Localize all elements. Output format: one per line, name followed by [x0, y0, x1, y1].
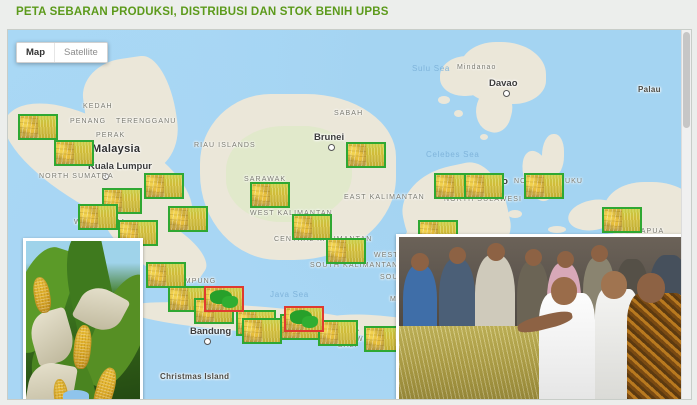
marker-field-thumbnail: [98, 206, 116, 228]
corn-photo-inner: [26, 241, 140, 400]
crowd-person-head: [449, 247, 466, 264]
marker-field-thumbnail: [122, 190, 140, 212]
map-marker-bengkulu[interactable]: [168, 206, 208, 232]
crowd-person-head: [411, 253, 429, 271]
marker-corn-thumbnail: [466, 175, 484, 197]
map-marker-west-kalimantan[interactable]: [250, 182, 290, 208]
map-marker-central-kalimantan[interactable]: [292, 214, 332, 240]
crowd-person-head: [525, 249, 542, 266]
map-marker-west-java-selected[interactable]: [204, 286, 244, 312]
marker-corn-thumbnail: [170, 208, 188, 230]
marker-corn-thumbnail: [56, 142, 74, 164]
marker-province-highlight: [302, 316, 318, 328]
marker-corn-thumbnail: [366, 328, 384, 350]
city-dot: [102, 173, 109, 180]
marker-pin-tail: [221, 310, 227, 312]
corn-field-photo[interactable]: [23, 238, 143, 400]
marker-field-thumbnail: [346, 240, 364, 262]
map-marker-north-sumatra[interactable]: [54, 140, 94, 166]
marker-field-thumbnail: [366, 144, 384, 166]
marker-field-thumbnail: [74, 142, 92, 164]
marker-corn-thumbnail: [526, 175, 544, 197]
marker-field-thumbnail: [484, 175, 502, 197]
map-marker-north-maluku[interactable]: [524, 173, 564, 199]
harvest-photo-inner: [399, 237, 692, 400]
map-type-map-button[interactable]: Map: [17, 43, 54, 62]
marker-corn-thumbnail: [294, 216, 312, 238]
marker-province-highlight: [222, 296, 238, 308]
page-header: PETA SEBARAN PRODUKSI, DISTRIBUSI DAN ST…: [0, 0, 697, 27]
page-title: PETA SEBARAN PRODUKSI, DISTRIBUSI DAN ST…: [16, 6, 389, 18]
official-batik-shirt: [627, 293, 689, 400]
marker-corn-thumbnail: [146, 175, 164, 197]
map-marker-west-papua[interactable]: [602, 207, 642, 233]
marker-field-thumbnail: [622, 209, 640, 231]
map-marker-bali[interactable]: [318, 320, 358, 346]
marker-corn-thumbnail: [252, 184, 270, 206]
map-marker-yogyakarta[interactable]: [242, 318, 282, 344]
marker-corn-thumbnail: [604, 209, 622, 231]
islet: [548, 226, 566, 233]
marker-corn-thumbnail: [436, 175, 454, 197]
marker-corn-thumbnail: [244, 320, 262, 342]
map-marker-lampung[interactable]: [146, 262, 186, 288]
islet: [438, 96, 450, 104]
map-bottom-handle: [63, 390, 89, 400]
map-marker-gorontalo[interactable]: [464, 173, 504, 199]
official-head: [601, 271, 627, 299]
islet: [652, 212, 666, 218]
map-canvas[interactable]: Sulu SeaMindanaoDavaoPalauKEDAHPENANGTER…: [8, 30, 691, 399]
official-white-shirt: [539, 293, 595, 400]
map-container[interactable]: Sulu SeaMindanaoDavaoPalauKEDAHPENANGTER…: [7, 29, 692, 400]
crowd-person-head: [487, 243, 505, 261]
marker-field-thumbnail: [312, 216, 330, 238]
map-type-satellite-button[interactable]: Satellite: [54, 43, 107, 62]
map-type-control[interactable]: Map Satellite: [16, 42, 108, 63]
marker-field-thumbnail: [262, 320, 280, 342]
map-marker-east-java-selected[interactable]: [284, 306, 324, 332]
official-head: [551, 277, 577, 305]
islet: [508, 210, 522, 218]
city-dot: [204, 338, 211, 345]
marker-field-thumbnail: [188, 208, 206, 230]
marker-corn-thumbnail: [148, 264, 166, 286]
crowd-person-head: [591, 245, 608, 262]
marker-field-thumbnail: [544, 175, 562, 197]
marker-corn-thumbnail: [348, 144, 366, 166]
city-dot: [328, 144, 335, 151]
map-marker-south-kalimantan[interactable]: [326, 238, 366, 264]
marker-corn-thumbnail: [80, 206, 98, 228]
islet: [480, 134, 488, 140]
crowd-person-head: [557, 251, 574, 268]
map-marker-east-kalimantan[interactable]: [346, 142, 386, 168]
map-marker-aceh[interactable]: [18, 114, 58, 140]
marker-corn-thumbnail: [328, 240, 346, 262]
marker-field-thumbnail: [270, 184, 288, 206]
rice-harvest-photo[interactable]: [396, 234, 692, 400]
islet: [454, 110, 463, 117]
map-marker-riau[interactable]: [144, 173, 184, 199]
marker-field-thumbnail: [338, 322, 356, 344]
map-scrollbar[interactable]: [681, 30, 691, 399]
map-marker-jambi[interactable]: [78, 204, 118, 230]
official-head: [637, 273, 665, 303]
marker-field-thumbnail: [164, 175, 182, 197]
marker-pin-tail: [301, 330, 307, 332]
landmass-halmahera: [542, 134, 564, 176]
marker-field-thumbnail: [166, 264, 184, 286]
marker-field-thumbnail: [38, 116, 56, 138]
map-scrollbar-thumb[interactable]: [683, 32, 690, 128]
seed-distribution-map-page: PETA SEBARAN PRODUKSI, DISTRIBUSI DAN ST…: [0, 0, 697, 405]
marker-corn-thumbnail: [20, 116, 38, 138]
marker-corn-thumbnail: [170, 288, 188, 310]
city-dot: [503, 90, 510, 97]
